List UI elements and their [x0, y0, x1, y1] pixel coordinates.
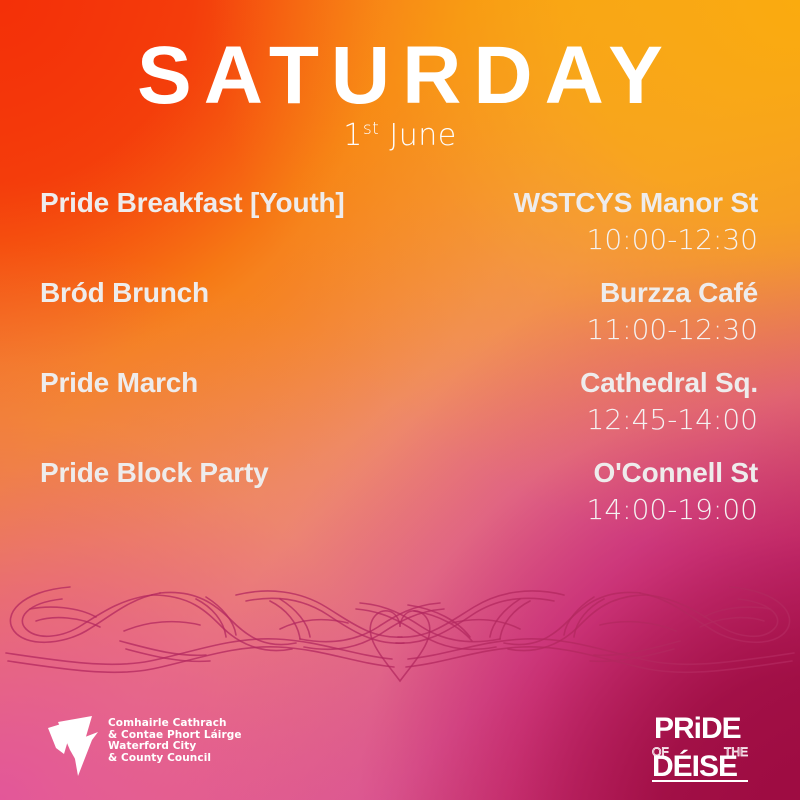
event-details: WSTCYS Manor St 10:00-12:30 [514, 186, 758, 260]
event-time: 10:00-12:30 [514, 220, 758, 260]
event-name: Pride March [40, 366, 198, 400]
poster-date: 1st June [0, 120, 800, 152]
council-line-4: & County Council [108, 753, 242, 765]
waterford-council-logo: Comhairle Cathrach & Contae Phort Láirge… [48, 712, 318, 784]
date-month: June [389, 118, 456, 153]
pride-logo-underline [652, 780, 748, 782]
pride-wordmark-line2: DÉISE [652, 749, 737, 783]
event-time: 11:00-12:30 [587, 310, 759, 350]
event-name: Pride Block Party [40, 456, 268, 490]
event-name: Pride Breakfast [Youth] [40, 186, 345, 220]
celtic-knot-heart-band-icon [0, 565, 800, 690]
council-line-1: Comhairle Cathrach [108, 718, 242, 730]
event-schedule-list: Pride Breakfast [Youth] WSTCYS Manor St … [40, 186, 758, 546]
date-day: 1 [343, 118, 363, 153]
event-details: Cathedral Sq. 12:45-14:00 [580, 366, 758, 440]
event-time: 14:00-19:00 [587, 490, 759, 530]
poster-header: SATURDAY 1st June [0, 34, 800, 152]
list-item: Pride March Cathedral Sq. 12:45-14:00 [40, 366, 758, 456]
pride-saturday-poster: SATURDAY 1st June Pride Breakfast [Youth… [0, 0, 800, 800]
event-venue: WSTCYS Manor St [514, 186, 758, 220]
event-details: O'Connell St 14:00-19:00 [587, 456, 759, 530]
event-venue: Cathedral Sq. [580, 366, 758, 400]
event-details: Burzza Café 11:00-12:30 [587, 276, 759, 350]
event-name: Bród Brunch [40, 276, 209, 310]
date-ordinal-suffix: st [363, 119, 380, 139]
list-item: Bród Brunch Burzza Café 11:00-12:30 [40, 276, 758, 366]
list-item: Pride Breakfast [Youth] WSTCYS Manor St … [40, 186, 758, 276]
pride-of-the-deise-logo: PRiDE OF THE DÉISE [638, 706, 758, 784]
event-venue: Burzza Café [587, 276, 759, 310]
list-item: Pride Block Party O'Connell St 14:00-19:… [40, 456, 758, 546]
pride-wordmark-line1: PRiDE [654, 712, 741, 745]
event-time: 12:45-14:00 [580, 400, 758, 440]
waterford-council-wordmark: Comhairle Cathrach & Contae Phort Láirge… [108, 718, 242, 764]
waterford-w-mark-icon [48, 714, 100, 780]
page-title: SATURDAY [0, 34, 800, 118]
event-venue: O'Connell St [587, 456, 759, 490]
